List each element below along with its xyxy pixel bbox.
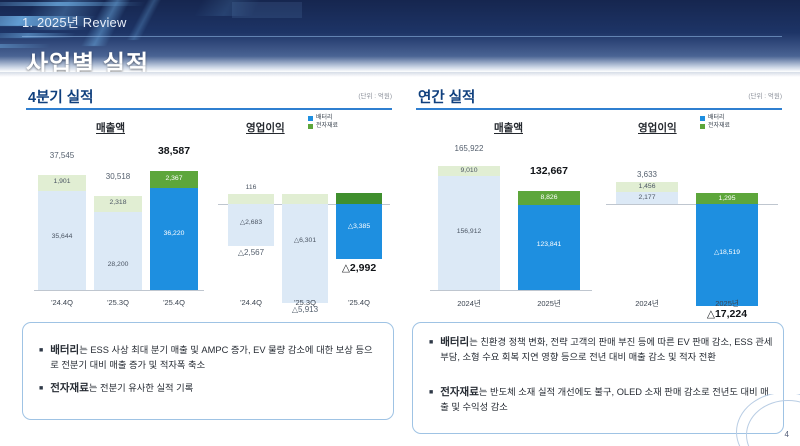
bar-column[interactable]: 165,922 9,010 156,912 xyxy=(438,166,500,290)
bullet-lead: 배터리 xyxy=(50,344,79,356)
segment-value: 1,456 xyxy=(616,183,678,190)
bar-total-label: △17,224 xyxy=(696,308,758,320)
bar-segment-battery[interactable]: 28,200 xyxy=(94,212,142,290)
bar-column-positive[interactable]: 3,633 1,456 2,177 xyxy=(616,182,678,204)
bar-segment-emat[interactable]: 9,010 xyxy=(438,166,500,176)
bar-column[interactable]: 30,518 2,318 28,200 xyxy=(94,196,142,290)
panel-quarter-title: 4분기 실적 xyxy=(28,86,93,107)
segment-value: 9,010 xyxy=(438,167,500,174)
bar-segment-battery[interactable]: 156,912 xyxy=(438,176,500,290)
bar-column[interactable]: 37,545 1,901 35,644 xyxy=(38,175,86,290)
bar-total-label: 3,633 xyxy=(616,170,678,179)
segment-value: 28,200 xyxy=(94,261,142,268)
chart-a-profit-title: 영업이익 xyxy=(638,120,677,135)
bar-total-label: 30,518 xyxy=(94,172,142,181)
header-dim-block xyxy=(232,2,302,18)
x-tick-label: '25.3Q xyxy=(94,298,142,307)
bar-column-positive[interactable]: 1,295 xyxy=(696,193,758,204)
chart-q-legend: 배터리 전자재료 xyxy=(308,114,338,130)
legend-battery: 배터리 xyxy=(708,114,725,122)
segment-value: 2,318 xyxy=(94,199,142,206)
x-tick-label: 2025년 xyxy=(696,298,758,309)
x-axis xyxy=(430,290,592,291)
page-title: 사업별 실적 xyxy=(26,44,149,72)
bar-segment-emat[interactable]: 2,318 xyxy=(94,196,142,212)
bar-column-negative[interactable]: △6,301 △5,913 xyxy=(282,204,328,303)
chart-annual-revenue: 165,922 9,010 156,912 132,667 8,826 123,… xyxy=(422,142,606,312)
x-tick-label: '25.4Q xyxy=(150,298,198,307)
bullet-item: ■ 배터리는 ESS 사상 최대 분기 매출 및 AMPC 증가, EV 물량 … xyxy=(39,343,377,372)
segment-value: 8,826 xyxy=(518,194,580,201)
x-tick-label: '24.4Q xyxy=(228,298,274,307)
chart-q-profit-title: 영업이익 xyxy=(246,120,285,135)
header-shadow xyxy=(0,72,800,77)
bar-column-negative[interactable]: △3,385 △2,992 xyxy=(336,204,382,259)
chart-quarter-profit: 116 △2,683 △2,567 388 △6,301 △5,913 393 … xyxy=(216,142,394,312)
segment-value: △3,385 xyxy=(336,222,382,230)
bar-total-label: 38,587 xyxy=(150,145,198,157)
panel-annual-rule xyxy=(416,108,782,110)
bar-total-label: 165,922 xyxy=(438,144,500,153)
legend-battery: 배터리 xyxy=(316,114,333,122)
segment-value: 35,644 xyxy=(38,233,86,240)
bar-segment-battery[interactable]: △3,385 xyxy=(336,204,382,259)
header-rule xyxy=(22,36,782,37)
panel-annual: 연간 실적 (단위 : 억원) 매출액 영업이익 배터리 전자재료 165,92… xyxy=(408,86,788,316)
bar-column-positive[interactable]: 388 xyxy=(282,194,328,204)
chart-q-revenue-title: 매출액 xyxy=(96,120,125,135)
bullet-lead: 전자재료 xyxy=(440,386,479,398)
segment-value: 123,841 xyxy=(518,241,580,248)
segment-value: 2,367 xyxy=(150,175,198,182)
x-axis xyxy=(34,290,204,291)
bar-column[interactable]: 38,587 2,367 36,220 xyxy=(150,171,198,290)
bullet-marker-icon: ■ xyxy=(429,385,433,414)
bar-segment-emat[interactable]: 8,826 xyxy=(518,191,580,205)
bar-segment-battery[interactable]: 35,644 xyxy=(38,191,86,290)
x-tick-label: 2025년 xyxy=(518,298,580,309)
panel-quarter-rule xyxy=(26,108,392,110)
bar-column[interactable]: 132,667 8,826 123,841 xyxy=(518,191,580,290)
legend-emat: 전자재료 xyxy=(316,122,338,130)
bullet-text: 는 ESS 사상 최대 분기 매출 및 AMPC 증가, EV 물량 감소에 대… xyxy=(50,345,372,370)
bullet-lead: 배터리 xyxy=(440,336,469,348)
x-tick-label: '24.4Q xyxy=(38,298,86,307)
segment-value: 1,901 xyxy=(38,178,86,185)
section-kicker: 1. 2025년 Review xyxy=(22,12,127,31)
corner-arc-decoration xyxy=(736,394,800,446)
x-tick-label: '25.3Q xyxy=(282,298,328,307)
chart-quarter-revenue: 37,545 1,901 35,644 30,518 2,318 28,200 … xyxy=(30,142,210,312)
bar-segment-emat[interactable]: 1,901 xyxy=(38,175,86,191)
bar-total-label: 37,545 xyxy=(38,151,86,160)
segment-value: 2,177 xyxy=(616,194,678,201)
bar-segment-battery[interactable]: 36,220 xyxy=(150,188,198,290)
panel-annual-title: 연간 실적 xyxy=(418,86,475,107)
bar-segment-battery[interactable]: △18,519 xyxy=(696,204,758,306)
bar-column-positive[interactable]: 393 xyxy=(336,193,382,204)
bar-column-negative[interactable]: △18,519 △17,224 xyxy=(696,204,758,306)
segment-value: 116 xyxy=(228,184,274,191)
page-number: 4 xyxy=(785,430,789,439)
bar-segment-battery[interactable]: △2,683 xyxy=(228,204,274,246)
bar-segment-battery[interactable]: △6,301 xyxy=(282,204,328,303)
x-tick-label: 2024년 xyxy=(438,298,500,309)
x-tick-label: 2024년 xyxy=(616,298,678,309)
bullet-marker-icon: ■ xyxy=(429,335,433,364)
bar-total-label: △2,567 xyxy=(228,248,274,257)
segment-value: △6,301 xyxy=(282,236,328,244)
bar-segment-emat[interactable] xyxy=(336,193,382,204)
panel-quarter: 4분기 실적 (단위 : 억원) 매출액 영업이익 배터리 전자재료 37,54… xyxy=(18,86,398,316)
segment-value: △18,519 xyxy=(696,248,758,256)
bar-total-label: △2,992 xyxy=(336,262,382,274)
bar-segment-battery[interactable]: 2,177 xyxy=(616,192,678,204)
chart-annual-profit: 3,633 1,456 2,177 1,295 △18,519 △17,224 … xyxy=(606,142,786,312)
bullet-lead: 전자재료 xyxy=(50,382,89,394)
header-streak xyxy=(126,0,168,40)
bar-segment-emat[interactable] xyxy=(282,194,328,204)
bar-column-negative[interactable]: △2,683 △2,567 xyxy=(228,204,274,246)
bullet-text: 는 친환경 정책 변화, 전략 고객의 판매 부진 등에 따른 EV 판매 감소… xyxy=(440,337,772,362)
notes-box-annual: ■ 배터리는 친환경 정책 변화, 전략 고객의 판매 부진 등에 따른 EV … xyxy=(412,322,784,434)
bullet-item: ■ 전자재료는 전분기 유사한 실적 기록 xyxy=(39,381,377,396)
chart-a-legend: 배터리 전자재료 xyxy=(700,114,730,130)
segment-value: 156,912 xyxy=(438,228,500,235)
bullet-text: 는 전분기 유사한 실적 기록 xyxy=(89,383,193,393)
panel-annual-unit: (단위 : 억원) xyxy=(748,90,782,100)
bar-segment-emat[interactable]: 1,295 xyxy=(696,193,758,204)
bar-segment-emat[interactable] xyxy=(228,194,274,204)
segment-value: 36,220 xyxy=(150,230,198,237)
slide-header: 1. 2025년 Review 사업별 실적 xyxy=(0,0,800,72)
segment-value: △2,683 xyxy=(228,218,274,226)
bullet-item: ■ 배터리는 친환경 정책 변화, 전략 고객의 판매 부진 등에 따른 EV … xyxy=(429,335,773,364)
bar-segment-emat[interactable]: 1,456 xyxy=(616,182,678,192)
bullet-item: ■ 전자재료는 반도체 소재 실적 개선에도 불구, OLED 소재 판매 감소… xyxy=(429,385,773,414)
bullet-marker-icon: ■ xyxy=(39,381,43,396)
bullet-text: 는 반도체 소재 실적 개선에도 불구, OLED 소재 판매 감소로 전년도 … xyxy=(440,387,768,412)
bar-column-positive[interactable]: 116 xyxy=(228,194,274,204)
bar-segment-battery[interactable]: 123,841 xyxy=(518,205,580,290)
bar-segment-emat[interactable]: 2,367 xyxy=(150,171,198,188)
segment-value: 1,295 xyxy=(696,195,758,202)
bar-total-label: 132,667 xyxy=(518,165,580,177)
bullet-marker-icon: ■ xyxy=(39,343,43,372)
x-tick-label: '25.4Q xyxy=(336,298,382,307)
panel-quarter-unit: (단위 : 억원) xyxy=(358,90,392,100)
notes-box-quarter: ■ 배터리는 ESS 사상 최대 분기 매출 및 AMPC 증가, EV 물량 … xyxy=(22,322,394,420)
chart-a-revenue-title: 매출액 xyxy=(494,120,523,135)
legend-emat: 전자재료 xyxy=(708,122,730,130)
